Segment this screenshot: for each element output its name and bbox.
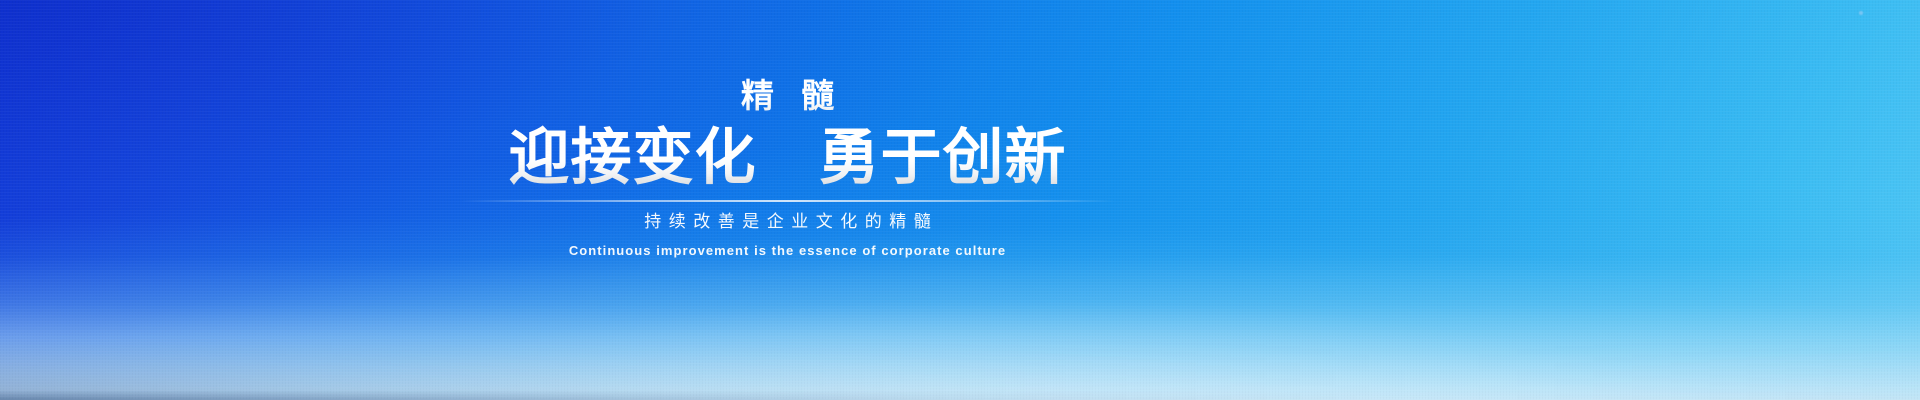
banner-content: 精 髓 迎接变化 勇于创新 持续改善是企业文化的精髓 Continuous im… [0, 0, 1920, 400]
banner-headline: 迎接变化 勇于创新 [0, 122, 1575, 192]
hero-banner: 精 髓 迎接变化 勇于创新 持续改善是企业文化的精髓 Continuous im… [0, 0, 1920, 400]
banner-headline-part-2: 勇于创新 [818, 123, 1066, 191]
banner-headline-part-1: 迎接变化 [509, 123, 757, 191]
banner-text-stack: 精 髓 迎接变化 勇于创新 持续改善是企业文化的精髓 Continuous im… [0, 76, 1575, 260]
banner-divider [461, 200, 1115, 202]
banner-eyebrow: 精 髓 [0, 76, 1575, 116]
banner-subtitle-chinese: 持续改善是企业文化的精髓 [0, 211, 1575, 233]
banner-subtitle-english: Continuous improvement is the essence of… [0, 242, 1575, 260]
